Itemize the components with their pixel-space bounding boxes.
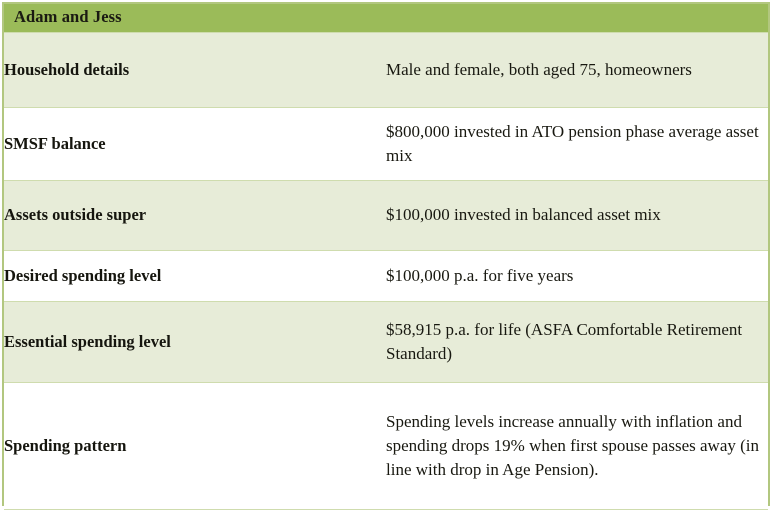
table-row: Desired spending level $100,000 p.a. for… bbox=[4, 251, 768, 302]
row-value: $800,000 invested in ATO pension phase a… bbox=[386, 122, 759, 165]
row-label-cell: Desired spending level bbox=[4, 251, 386, 302]
row-value-cell: Spending levels increase annually with i… bbox=[386, 383, 768, 510]
table-row: SMSF balance $800,000 invested in ATO pe… bbox=[4, 108, 768, 181]
row-value-cell: Male and female, both aged 75, homeowner… bbox=[386, 33, 768, 108]
row-label-cell: SMSF balance bbox=[4, 108, 386, 181]
row-label-cell: Assets outside super bbox=[4, 181, 386, 251]
row-label: Assets outside super bbox=[4, 205, 146, 224]
row-value: $58,915 p.a. for life (ASFA Comfortable … bbox=[386, 320, 742, 363]
row-label: Desired spending level bbox=[4, 266, 161, 285]
row-label: Essential spending level bbox=[4, 332, 171, 351]
case-study-table-container: Adam and Jess Household details Male and… bbox=[2, 2, 770, 506]
table-row: Household details Male and female, both … bbox=[4, 33, 768, 108]
table-row: Assets outside super $100,000 invested i… bbox=[4, 181, 768, 251]
table-header-row: Adam and Jess bbox=[4, 4, 768, 33]
row-value: Spending levels increase annually with i… bbox=[386, 412, 759, 479]
case-study-table: Adam and Jess Household details Male and… bbox=[4, 4, 768, 510]
page-title: Adam and Jess bbox=[14, 7, 122, 26]
row-value-cell: $100,000 p.a. for five years bbox=[386, 251, 768, 302]
table-body: Adam and Jess Household details Male and… bbox=[4, 4, 768, 510]
row-value-cell: $58,915 p.a. for life (ASFA Comfortable … bbox=[386, 302, 768, 383]
row-value-cell: $800,000 invested in ATO pension phase a… bbox=[386, 108, 768, 181]
row-label-cell: Essential spending level bbox=[4, 302, 386, 383]
row-value: Male and female, both aged 75, homeowner… bbox=[386, 60, 692, 79]
table-row: Essential spending level $58,915 p.a. fo… bbox=[4, 302, 768, 383]
row-label-cell: Spending pattern bbox=[4, 383, 386, 510]
row-value-cell: $100,000 invested in balanced asset mix bbox=[386, 181, 768, 251]
row-label-cell: Household details bbox=[4, 33, 386, 108]
row-value: $100,000 p.a. for five years bbox=[386, 266, 573, 285]
table-header-cell: Adam and Jess bbox=[4, 4, 768, 33]
row-value: $100,000 invested in balanced asset mix bbox=[386, 205, 661, 224]
row-label: Spending pattern bbox=[4, 436, 126, 455]
row-label: Household details bbox=[4, 60, 129, 79]
table-row: Spending pattern Spending levels increas… bbox=[4, 383, 768, 510]
row-label: SMSF balance bbox=[4, 134, 106, 153]
